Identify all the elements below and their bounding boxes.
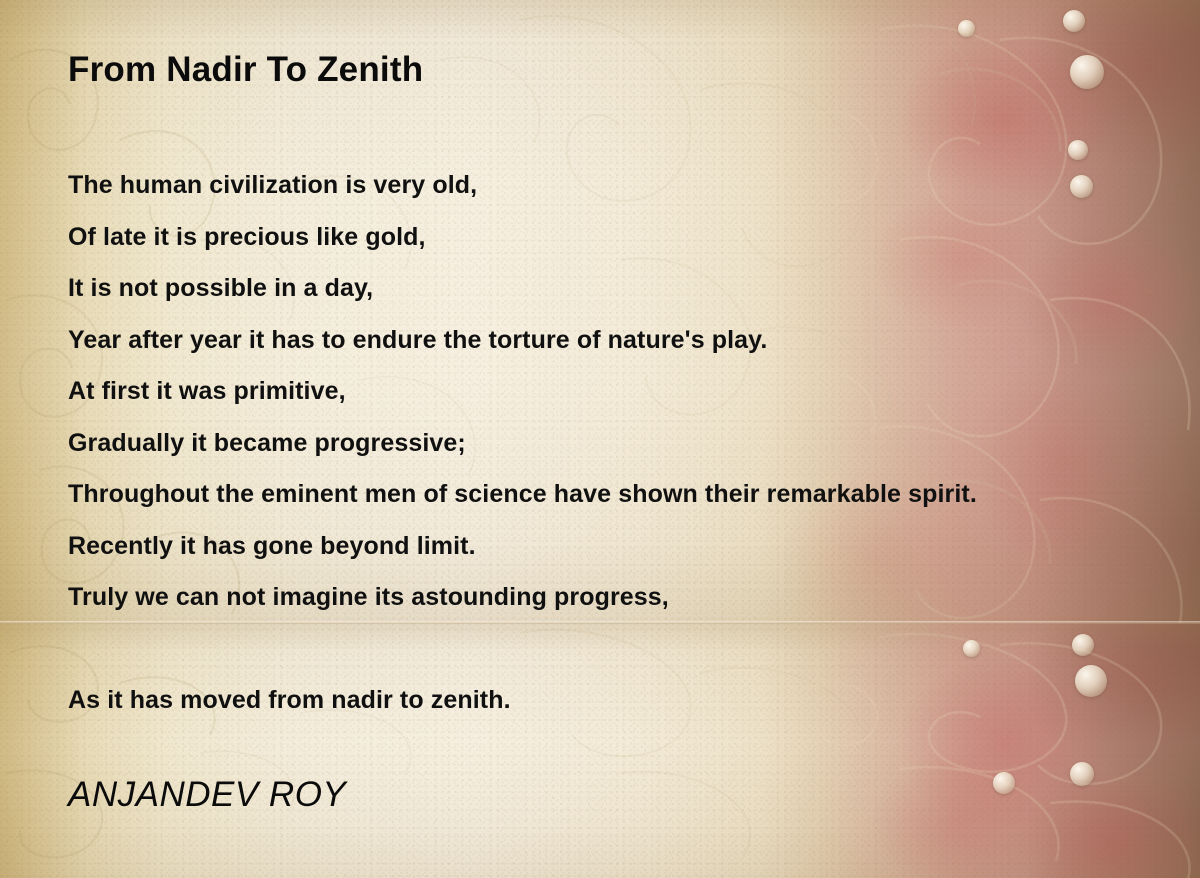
poem-line: Throughout the eminent men of science ha… xyxy=(68,469,1200,521)
poem-line: The human civilization is very old, xyxy=(68,160,1200,212)
poem-line: It is not possible in a day, xyxy=(68,263,1200,315)
poem-line: Truly we can not imagine its astounding … xyxy=(68,572,1200,624)
poem-body: The human civilization is very old,Of la… xyxy=(68,160,1200,727)
poem-line: Year after year it has to endure the tor… xyxy=(68,315,1200,367)
poem-line: As it has moved from nadir to zenith. xyxy=(68,675,1200,727)
poem-line: At first it was primitive, xyxy=(68,366,1200,418)
poem-author-signature: ANJANDEV ROY xyxy=(68,775,346,815)
poem-line: Of late it is precious like gold, xyxy=(68,212,1200,264)
poem-image-card: From Nadir To Zenith The human civilizat… xyxy=(0,0,1200,878)
page-title: From Nadir To Zenith xyxy=(68,50,423,90)
poem-text-layer: From Nadir To Zenith The human civilizat… xyxy=(0,0,1200,878)
poem-line: Recently it has gone beyond limit. xyxy=(68,521,1200,573)
poem-line xyxy=(68,624,1200,676)
poem-line: Gradually it became progressive; xyxy=(68,418,1200,470)
